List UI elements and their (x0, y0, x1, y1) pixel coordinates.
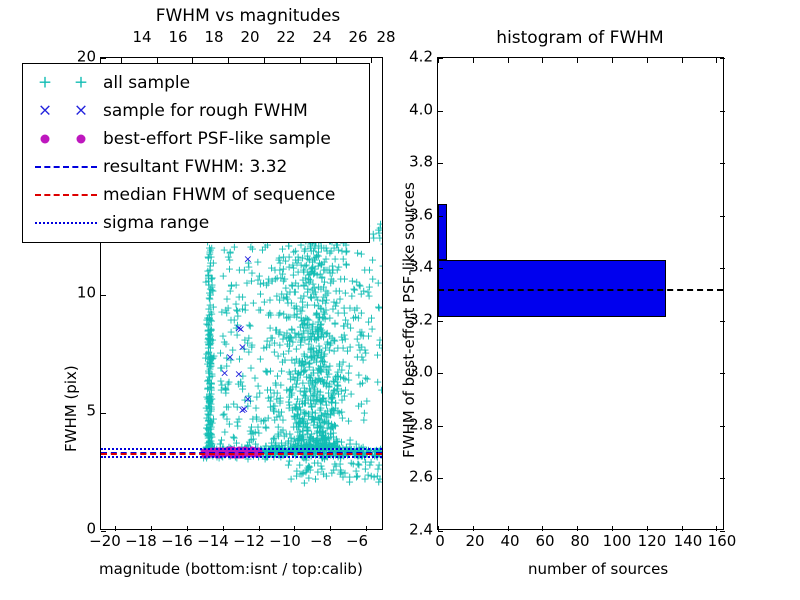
scatter-point: + (314, 282, 323, 293)
scatter-point: + (354, 400, 363, 411)
scatter-point: + (207, 369, 216, 380)
scatter-point: + (207, 379, 216, 390)
scatter-point: × (243, 254, 252, 265)
scatter-point: + (312, 345, 321, 356)
scatter-point: + (279, 293, 288, 304)
scatter-point: + (235, 264, 244, 275)
scatter-point: + (219, 270, 228, 281)
scatter-point: + (284, 345, 293, 356)
scatter-point: + (309, 246, 318, 257)
scatter-point: + (207, 251, 216, 262)
scatter-point: + (306, 395, 315, 406)
scatter-point: + (303, 424, 312, 435)
scatter-point: + (313, 437, 322, 448)
scatter-point: + (310, 282, 319, 293)
scatter-point: + (329, 432, 338, 443)
scatter-point: + (316, 352, 325, 363)
scatter-point: + (333, 436, 342, 447)
legend-label: all sample (103, 75, 190, 92)
scatter-point: + (316, 259, 325, 270)
scatter-point: + (318, 355, 327, 366)
y-tick-mark (438, 58, 443, 59)
scatter-point: + (326, 423, 335, 434)
scatter-point: + (266, 402, 275, 413)
scatter-point: + (336, 458, 345, 469)
scatter-point: + (315, 324, 324, 335)
scatter-point: + (339, 303, 348, 314)
scatter-point: + (303, 450, 312, 461)
scatter-point: + (317, 463, 326, 474)
left-yaxis-label: FWHM (pix) (62, 365, 80, 452)
scatter-point: + (293, 410, 302, 421)
scatter-point: + (368, 450, 377, 461)
scatter-point: + (294, 266, 303, 277)
scatter-point: + (224, 401, 233, 412)
scatter-point: + (205, 436, 214, 447)
legend[interactable]: + + all sample × × sample for rough FWHM… (22, 63, 370, 243)
scatter-point: + (247, 276, 256, 287)
scatter-point: + (239, 450, 248, 461)
scatter-point: + (251, 403, 260, 414)
scatter-point: + (367, 471, 376, 482)
scatter-point: + (298, 425, 307, 436)
scatter-point: + (314, 333, 323, 344)
scatter-point: + (256, 416, 265, 427)
scatter-point: + (375, 233, 382, 244)
scatter-point: + (223, 379, 232, 390)
x-tick-mark (115, 526, 116, 531)
scatter-point: + (311, 399, 320, 410)
scatter-point: + (327, 392, 336, 403)
scatter-point: + (276, 427, 285, 438)
legend-item-rough-fwhm[interactable]: × × sample for rough FWHM (23, 97, 369, 125)
scatter-point: + (317, 411, 326, 422)
scatter-point: + (296, 417, 305, 428)
scatter-point: + (321, 438, 330, 449)
scatter-point: + (204, 272, 213, 283)
scatter-point: + (313, 421, 322, 432)
scatter-point: + (318, 393, 327, 404)
scatter-point: + (314, 331, 323, 342)
scatter-point: + (320, 256, 329, 267)
reference-line (101, 456, 382, 458)
scatter-point: + (317, 409, 326, 420)
scatter-point: + (238, 304, 247, 315)
legend-item-median-fhwm[interactable]: median FHWM of sequence (23, 181, 369, 209)
scatter-point: + (290, 309, 299, 320)
scatter-point: + (341, 247, 350, 258)
scatter-point: + (311, 309, 320, 320)
scatter-point: + (204, 424, 213, 435)
scatter-point: + (313, 426, 322, 437)
scatter-point: + (291, 287, 300, 298)
scatter-point: + (312, 435, 321, 446)
scatter-point: + (321, 298, 330, 309)
scatter-point: + (282, 291, 291, 302)
bottom-tick-label: −16 (161, 534, 193, 549)
scatter-point: + (297, 305, 306, 316)
scatter-point: + (204, 280, 213, 291)
scatter-point: + (299, 360, 308, 371)
scatter-point: + (296, 469, 305, 480)
scatter-point: + (300, 397, 309, 408)
scatter-point: + (204, 340, 213, 351)
scatter-point: + (288, 405, 297, 416)
scatter-point: + (308, 406, 317, 417)
scatter-point: + (205, 361, 214, 372)
scatter-point: + (204, 347, 213, 358)
scatter-point: + (316, 421, 325, 432)
x-tick-mark-top (473, 58, 474, 63)
scatter-point: + (352, 303, 361, 314)
scatter-point: + (324, 387, 333, 398)
scatter-point: + (216, 376, 225, 387)
scatter-point: + (299, 280, 308, 291)
scatter-point: + (209, 413, 218, 424)
scatter-point: + (330, 346, 339, 357)
scatter-point: + (205, 292, 214, 303)
scatter-point: + (313, 385, 322, 396)
scatter-point: + (322, 441, 331, 452)
figure-canvas: FWHM vs magnitudes 14 16 18 20 22 24 26 … (0, 0, 800, 600)
scatter-point: + (315, 417, 324, 428)
scatter-point: + (308, 414, 317, 425)
scatter-point: + (274, 309, 283, 320)
scatter-point: + (203, 409, 212, 420)
scatter-point: + (256, 288, 265, 299)
scatter-point: + (206, 315, 215, 326)
scatter-point: + (336, 371, 345, 382)
scatter-point: + (323, 412, 332, 423)
legend-item-sigma-range[interactable]: sigma range (23, 209, 369, 237)
scatter-point: + (329, 297, 338, 308)
scatter-point: + (284, 262, 293, 273)
scatter-point: + (204, 415, 213, 426)
scatter-point: + (204, 269, 213, 280)
scatter-point: + (312, 435, 321, 446)
scatter-point: + (310, 268, 319, 279)
scatter-point: + (368, 254, 377, 265)
scatter-point: + (206, 325, 215, 336)
reference-line (101, 448, 382, 450)
scatter-point: + (254, 428, 263, 439)
scatter-point: + (308, 378, 317, 389)
scatter-point: + (325, 360, 334, 371)
scatter-point: + (295, 459, 304, 470)
scatter-point: + (207, 388, 216, 399)
scatter-point: + (357, 351, 366, 362)
scatter-point: + (374, 277, 382, 288)
scatter-point: + (264, 273, 273, 284)
scatter-point: + (311, 474, 320, 485)
scatter-point: + (308, 375, 317, 386)
scatter-point: + (305, 362, 314, 373)
x-tick-mark (259, 526, 260, 531)
scatter-point: + (323, 405, 332, 416)
scatter-point: + (298, 414, 307, 425)
scatter-point: + (267, 262, 276, 273)
scatter-point: + (322, 438, 331, 449)
scatter-point: + (262, 280, 271, 291)
scatter-point: + (222, 401, 231, 412)
scatter-point: + (373, 349, 382, 360)
scatter-point: + (364, 331, 373, 342)
scatter-point: + (349, 459, 358, 470)
scatter-point: + (304, 437, 313, 448)
scatter-point: + (282, 289, 291, 300)
scatter-point: + (201, 352, 210, 363)
scatter-point: + (205, 264, 214, 275)
scatter-point: + (206, 334, 215, 345)
scatter-point: + (207, 403, 216, 414)
scatter-point: + (286, 332, 295, 343)
scatter-point: + (294, 357, 303, 368)
scatter-point: + (284, 312, 293, 323)
scatter-point: + (267, 438, 276, 449)
scatter-point: + (204, 325, 213, 336)
scatter-point: + (354, 312, 363, 323)
scatter-point: + (301, 390, 310, 401)
scatter-point: + (272, 290, 281, 301)
y-tick-mark (438, 163, 443, 164)
scatter-point: + (322, 264, 331, 275)
scatter-point: + (316, 449, 325, 460)
scatter-point: + (207, 273, 216, 284)
scatter-point: + (230, 314, 239, 325)
scatter-point: + (243, 338, 252, 349)
scatter-point: + (255, 270, 264, 281)
legend-item-all-sample[interactable]: + + all sample (23, 69, 369, 97)
scatter-point: + (298, 432, 307, 443)
scatter-point: + (281, 282, 290, 293)
scatter-point: + (309, 346, 318, 357)
scatter-point: + (341, 333, 350, 344)
scatter-point: + (307, 264, 316, 275)
scatter-point: + (207, 378, 216, 389)
scatter-point: + (284, 403, 293, 414)
histogram-reference-line (438, 289, 723, 291)
scatter-point: + (207, 242, 216, 253)
scatter-point: + (295, 413, 304, 424)
scatter-point: + (266, 309, 275, 320)
right-plot-axes[interactable] (437, 57, 724, 530)
scatter-point: + (317, 366, 326, 377)
scatter-point: + (321, 431, 330, 442)
scatter-point: + (318, 396, 327, 407)
scatter-point: + (206, 352, 215, 363)
scatter-point: + (292, 309, 301, 320)
scatter-point: + (359, 414, 368, 425)
scatter-point: + (294, 438, 303, 449)
scatter-point: + (205, 415, 214, 426)
scatter-point: + (295, 433, 304, 444)
scatter-point: + (217, 435, 226, 446)
scatter-point: + (330, 336, 339, 347)
scatter-point: + (346, 322, 355, 333)
scatter-point: + (305, 383, 314, 394)
scatter-point: + (221, 383, 230, 394)
scatter-point: + (329, 334, 338, 345)
scatter-point: + (327, 245, 336, 256)
scatter-point: + (207, 393, 216, 404)
scatter-point: + (296, 292, 305, 303)
scatter-point: + (296, 386, 305, 397)
scatter-point: + (208, 370, 217, 381)
scatter-point: + (277, 437, 286, 448)
scatter-point: + (204, 343, 213, 354)
scatter-point: + (226, 286, 235, 297)
scatter-point: + (300, 245, 309, 256)
scatter-point: + (330, 317, 339, 328)
scatter-point: + (360, 474, 369, 485)
scatter-point: + (318, 355, 327, 366)
right-xtick-label: 20 (465, 534, 484, 549)
scatter-point: + (317, 395, 326, 406)
scatter-point: + (373, 463, 382, 474)
scatter-point: + (244, 332, 253, 343)
scatter-point: + (298, 442, 307, 453)
scatter-point: + (329, 388, 338, 399)
scatter-point: + (307, 262, 316, 273)
scatter-point: + (375, 334, 382, 345)
scatter-point: + (331, 374, 340, 385)
scatter-point: + (205, 351, 214, 362)
scatter-point: + (319, 362, 328, 373)
scatter-point: + (325, 378, 334, 389)
scatter-point: + (324, 417, 333, 428)
cross-icon: × (38, 103, 52, 120)
scatter-point: + (294, 254, 303, 265)
scatter-point: + (254, 304, 263, 315)
right-xtick-label: 80 (570, 534, 589, 549)
scatter-point: + (318, 418, 327, 429)
scatter-point: + (296, 334, 305, 345)
scatter-point: + (320, 433, 329, 444)
scatter-point: + (319, 264, 328, 275)
scatter-point: + (221, 388, 230, 399)
scatter-point: + (202, 392, 211, 403)
scatter-point: + (288, 371, 297, 382)
scatter-point: + (271, 438, 280, 449)
y-tick-mark (438, 268, 443, 269)
scatter-point: + (316, 397, 325, 408)
scatter-point: + (327, 397, 336, 408)
scatter-point: + (265, 339, 274, 350)
legend-item-resultant-fwhm[interactable]: resultant FWHM: 3.32 (23, 153, 369, 181)
scatter-point: + (291, 365, 300, 376)
scatter-point: + (312, 334, 321, 345)
scatter-point: + (272, 272, 281, 283)
scatter-point: + (203, 382, 212, 393)
scatter-point: + (345, 471, 354, 482)
right-ytick-label: 2.8 (409, 418, 433, 433)
scatter-point: + (324, 433, 333, 444)
scatter-point: + (359, 330, 368, 341)
scatter-point: + (292, 353, 301, 364)
scatter-point: + (203, 423, 212, 434)
scatter-point: + (298, 296, 307, 307)
scatter-point: + (280, 355, 289, 366)
x-tick-mark (542, 526, 543, 531)
scatter-point: + (320, 356, 329, 367)
scatter-point: + (292, 471, 301, 482)
scatter-point: + (310, 375, 319, 386)
scatter-point: + (322, 378, 331, 389)
scatter-point: + (209, 302, 218, 313)
scatter-point: + (234, 414, 243, 425)
scatter-point: + (261, 365, 270, 376)
scatter-point: + (247, 340, 256, 351)
scatter-point: + (327, 332, 336, 343)
scatter-point: + (247, 434, 256, 445)
y-tick-mark (101, 531, 106, 532)
scatter-point: + (329, 465, 338, 476)
scatter-point: + (279, 275, 288, 286)
top-tick-label: 24 (312, 30, 331, 45)
scatter-point: + (328, 441, 337, 452)
scatter-point: + (303, 319, 312, 330)
scatter-point: + (300, 348, 309, 359)
scatter-point: + (354, 369, 363, 380)
scatter-point: + (303, 314, 312, 325)
scatter-point: + (253, 256, 262, 267)
scatter-point: + (290, 375, 299, 386)
scatter-point: + (329, 276, 338, 287)
scatter-point: + (269, 403, 278, 414)
scatter-point: + (292, 403, 301, 414)
scatter-point: + (299, 290, 308, 301)
scatter-point: + (315, 258, 324, 269)
dashed-line-icon (35, 194, 97, 196)
legend-item-psf-sample[interactable]: best-effort PSF-like sample (23, 125, 369, 153)
scatter-point: + (300, 366, 309, 377)
scatter-point: + (204, 401, 213, 412)
scatter-point: + (324, 381, 333, 392)
scatter-point: + (313, 349, 322, 360)
scatter-point: + (266, 396, 275, 407)
scatter-point: + (355, 345, 364, 356)
scatter-point: + (308, 412, 317, 423)
x-tick-mark-top (508, 58, 509, 63)
scatter-point: + (357, 248, 366, 259)
dot-icon (77, 135, 86, 144)
scatter-point: + (330, 459, 339, 470)
scatter-point: + (299, 367, 308, 378)
scatter-point: + (303, 253, 312, 264)
scatter-point: + (303, 326, 312, 337)
scatter-point: + (301, 365, 310, 376)
scatter-point: + (204, 415, 213, 426)
scatter-point: + (319, 306, 328, 317)
scatter-point: + (220, 245, 229, 256)
scatter-point: + (309, 413, 318, 424)
scatter-point: + (275, 258, 284, 269)
scatter-point: + (316, 366, 325, 377)
scatter-point: + (309, 382, 318, 393)
scatter-point: + (302, 351, 311, 362)
scatter-point: + (328, 268, 337, 279)
scatter-point: + (316, 427, 325, 438)
scatter-point: + (288, 259, 297, 270)
scatter-point: + (274, 441, 283, 452)
scatter-point: + (303, 462, 312, 473)
scatter-point: + (301, 272, 310, 283)
scatter-point: + (295, 426, 304, 437)
scatter-point: + (361, 457, 370, 468)
scatter-point: + (314, 261, 323, 272)
scatter-point: + (206, 362, 215, 373)
scatter-point: + (306, 372, 315, 383)
